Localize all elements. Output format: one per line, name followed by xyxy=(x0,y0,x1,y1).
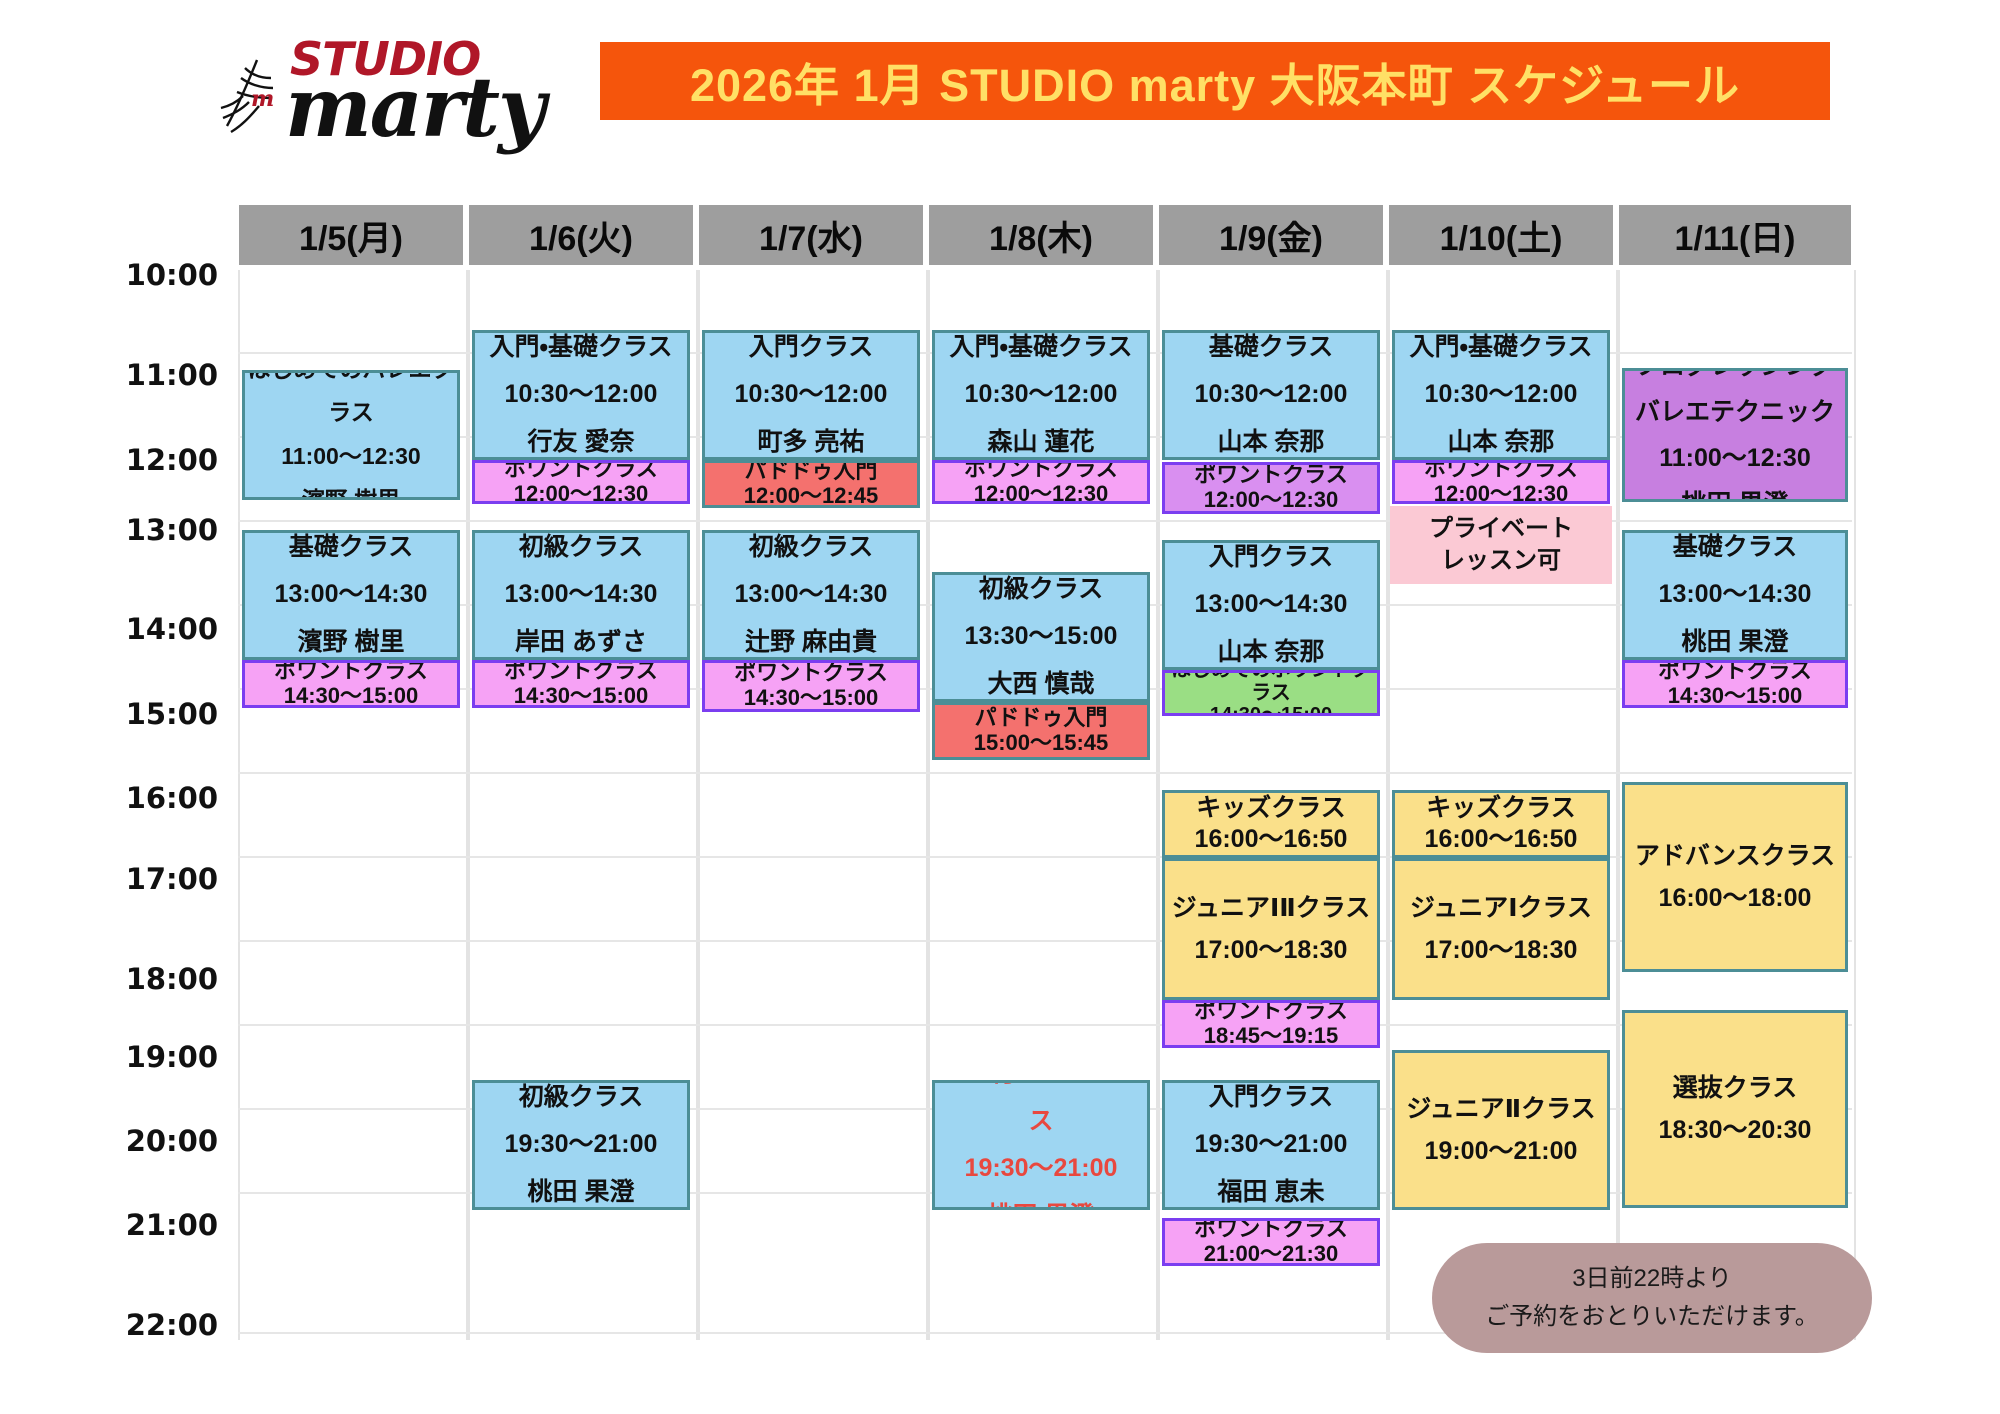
event-thu-padedeux[interactable]: パドドゥ入門 15:00〜15:45 xyxy=(932,702,1150,760)
time-label-1100: 11:00 xyxy=(108,358,218,392)
event-title: ジュニアⅠⅡクラス xyxy=(1172,887,1371,930)
event-wed-shokyu[interactable]: 初級クラス 13:00〜14:30 辻野 麻由貴 xyxy=(702,530,920,660)
event-title: 入門・基礎クラス xyxy=(949,330,1132,371)
event-tue-nyumon-kiso[interactable]: 入門・基礎クラス 10:30〜12:00 行友 愛奈 xyxy=(472,330,690,460)
event-wed-pointe[interactable]: ポワントクラス 14:30〜15:00 xyxy=(702,660,920,712)
event-sun-advance[interactable]: アドバンスクラス 16:00〜18:00 xyxy=(1622,782,1848,972)
schedule-grid: 10:00 11:00 12:00 13:00 14:00 15:00 16:0… xyxy=(0,0,2000,1414)
day-header-sat: 1/10(土) xyxy=(1388,204,1614,266)
event-wed-padedeux[interactable]: パドドゥ入門 12:00〜12:45 xyxy=(702,460,920,508)
time-label-1300: 13:00 xyxy=(108,513,218,547)
event-title: ポワントクラス xyxy=(1424,460,1578,482)
event-sun-senbatsu[interactable]: 選抜クラス 18:30〜20:30 xyxy=(1622,1010,1848,1208)
event-tue-pointe-1430[interactable]: ポワントクラス 14:30〜15:00 xyxy=(472,660,690,708)
event-teacher: 桃田 果澄 xyxy=(1682,619,1789,660)
event-fri-kiso[interactable]: 基礎クラス 10:30〜12:00 山本 奈那 xyxy=(1162,330,1380,460)
event-title: ポワントクラス xyxy=(1194,1000,1348,1024)
event-time: 12:00〜12:30 xyxy=(974,482,1109,504)
event-time: 13:30〜15:00 xyxy=(965,613,1118,661)
event-sun-progressing[interactable]: プログレッシング バレエテクニック 11:00〜12:30 桃田 果澄 xyxy=(1622,368,1848,502)
event-time: 21:00〜21:30 xyxy=(1204,1242,1339,1266)
event-teacher: 森山 蓮花 xyxy=(988,419,1095,460)
event-time: 15:00〜15:45 xyxy=(974,731,1109,756)
event-time: 13:00〜14:30 xyxy=(275,571,428,619)
event-fri-junior[interactable]: ジュニアⅠⅡクラス 17:00〜18:30 xyxy=(1162,858,1380,1000)
event-title: 初級クラス xyxy=(519,1080,644,1121)
time-label-1200: 12:00 xyxy=(108,443,218,477)
event-time: 19:30〜21:00 xyxy=(1195,1121,1348,1169)
event-time: 12:00〜12:45 xyxy=(744,484,879,508)
event-teacher: 大西 慎哉 xyxy=(988,661,1095,702)
time-label-1700: 17:00 xyxy=(108,862,218,896)
event-sat-nyumon-kiso[interactable]: 入門・基礎クラス 10:30〜12:00 山本 奈那 xyxy=(1392,330,1610,460)
event-time: 13:00〜14:30 xyxy=(1195,581,1348,629)
event-teacher: 福田 恵未 xyxy=(1218,1169,1325,1210)
event-teacher: 桃田 果澄 xyxy=(1682,481,1789,502)
event-mon-pointe[interactable]: ポワントクラス 14:30〜15:00 xyxy=(242,660,460,708)
event-teacher: 岸田 あずさ xyxy=(515,619,647,660)
event-time: 17:00〜18:30 xyxy=(1425,929,1578,972)
event-teacher: 町多 亮祐 xyxy=(758,419,865,460)
event-fri-kids[interactable]: キッズクラス 16:00〜16:50 xyxy=(1162,790,1380,858)
event-time: 14:30〜15:00 xyxy=(514,684,649,708)
event-time: 12:00〜12:30 xyxy=(514,482,649,504)
event-title: ポワントクラス xyxy=(1658,660,1812,684)
event-time: 19:30〜21:00 xyxy=(505,1121,658,1169)
event-title: はじめてのバレエクラス xyxy=(245,370,457,435)
event-time: 16:00〜16:50 xyxy=(1195,824,1348,855)
event-title: 入門クラス xyxy=(1209,540,1334,581)
event-fri-pointe-1845[interactable]: ポワントクラス 18:45〜19:15 xyxy=(1162,1000,1380,1048)
event-time: 16:00〜18:00 xyxy=(1659,877,1812,920)
event-sat-private-lesson[interactable]: プライベート レッスン可 xyxy=(1390,506,1612,584)
event-time: 19:00〜21:00 xyxy=(1425,1130,1578,1173)
time-label-1800: 18:00 xyxy=(108,962,218,996)
event-title: 初級クラス xyxy=(749,530,874,571)
event-title: 基礎クラス xyxy=(289,530,414,571)
private-line-2: レッスン可 xyxy=(1441,545,1561,577)
event-title: ポワントクラス xyxy=(274,660,428,684)
event-time: 11:00〜12:30 xyxy=(281,435,420,479)
event-title: パドドゥ入門 xyxy=(745,460,878,484)
event-tue-shokyu-evening[interactable]: 初級クラス 19:30〜21:00 桃田 果澄 xyxy=(472,1080,690,1210)
event-mon-kiso[interactable]: 基礎クラス 13:00〜14:30 濱野 樹里 xyxy=(242,530,460,660)
event-time: 16:00〜16:50 xyxy=(1425,824,1578,855)
event-title: ジュニアⅠクラス xyxy=(1410,887,1592,930)
event-title-line-1: プログレッシング xyxy=(1635,368,1835,389)
event-time: 13:00〜14:30 xyxy=(505,571,658,619)
time-label-2100: 21:00 xyxy=(108,1208,218,1242)
reservation-notice: 3日前22時より ご予約をおとりいただけます。 xyxy=(1432,1243,1872,1353)
event-title: キッズクラス xyxy=(1196,793,1346,824)
event-sun-kiso[interactable]: 基礎クラス 13:00〜14:30 桃田 果澄 xyxy=(1622,530,1848,660)
event-sat-kids[interactable]: キッズクラス 16:00〜16:50 xyxy=(1392,790,1610,858)
event-time: 18:30〜20:30 xyxy=(1659,1109,1812,1152)
event-fri-nyumon[interactable]: 入門クラス 13:00〜14:30 山本 奈那 xyxy=(1162,540,1380,670)
event-time: 17:00〜18:30 xyxy=(1195,929,1348,972)
event-title: 初級クラス xyxy=(519,530,644,571)
event-teacher: 山本 奈那 xyxy=(1448,419,1555,460)
event-fri-pointe-2100[interactable]: ポワントクラス 21:00〜21:30 xyxy=(1162,1218,1380,1266)
event-sat-junior-2[interactable]: ジュニアⅡクラス 19:00〜21:00 xyxy=(1392,1050,1610,1210)
event-time: 10:30〜12:00 xyxy=(1425,371,1578,419)
event-title: PBT付バレエクラス xyxy=(935,1080,1147,1145)
notice-line-2: ご予約をおとりいただけます。 xyxy=(1485,1298,1819,1336)
event-title: 入門・基礎クラス xyxy=(489,330,672,371)
event-tue-pointe-1200[interactable]: ポワントクラス 12:00〜12:30 xyxy=(472,460,690,504)
day-header-sun: 1/11(日) xyxy=(1618,204,1852,266)
event-time: 10:30〜12:00 xyxy=(965,371,1118,419)
event-title: ジュニアⅡクラス xyxy=(1406,1088,1595,1131)
event-title: キッズクラス xyxy=(1426,793,1576,824)
event-time: 11:00〜12:30 xyxy=(1659,435,1811,481)
event-fri-pointe-1200[interactable]: ポワントクラス 12:00〜12:30 xyxy=(1162,462,1380,514)
event-teacher: 山本 奈那 xyxy=(1218,629,1325,670)
time-label-2000: 20:00 xyxy=(108,1124,218,1158)
event-time: 12:00〜12:30 xyxy=(1204,488,1339,513)
event-teacher: 濱野 樹里 xyxy=(298,619,405,660)
time-label-1400: 14:00 xyxy=(108,612,218,646)
event-title-line-2: バレエテクニック xyxy=(1635,389,1835,435)
event-thu-shokyu[interactable]: 初級クラス 13:30〜15:00 大西 慎哉 xyxy=(932,572,1150,702)
event-thu-nyumon-kiso[interactable]: 入門・基礎クラス 10:30〜12:00 森山 蓮花 xyxy=(932,330,1150,460)
event-fri-first-pointe[interactable]: はじめてのポワントクラス 14:30〜15:00 xyxy=(1162,670,1380,716)
event-time: 13:00〜14:30 xyxy=(1659,571,1812,619)
event-time: 14:30〜15:00 xyxy=(284,684,419,708)
event-sat-pointe[interactable]: ポワントクラス 12:00〜12:30 xyxy=(1392,460,1610,504)
event-title: 基礎クラス xyxy=(1209,330,1334,371)
time-label-1000: 10:00 xyxy=(108,258,218,292)
event-teacher: 桃田 果澄 xyxy=(528,1169,635,1210)
event-time: 10:30〜12:00 xyxy=(1195,371,1348,419)
gridline-1900 xyxy=(238,1024,1852,1026)
event-fri-nyumon-evening[interactable]: 入門クラス 19:30〜21:00 福田 恵未 xyxy=(1162,1080,1380,1210)
event-title: ポワントクラス xyxy=(964,460,1118,482)
day-header-tue: 1/6(火) xyxy=(468,204,694,266)
gridline-1600 xyxy=(238,772,1852,774)
event-title: パドドゥ入門 xyxy=(975,706,1108,731)
day-header-mon: 1/5(月) xyxy=(238,204,464,266)
day-header-fri: 1/9(金) xyxy=(1158,204,1384,266)
event-sun-pointe[interactable]: ポワントクラス 14:30〜15:00 xyxy=(1622,660,1848,708)
event-time: 14:30〜15:00 xyxy=(1668,684,1803,708)
event-title: 初級クラス xyxy=(979,572,1104,613)
event-time: 19:30〜21:00 xyxy=(965,1145,1118,1193)
event-title: ポワントクラス xyxy=(504,660,658,684)
time-label-1600: 16:00 xyxy=(108,781,218,815)
day-header-thu: 1/8(木) xyxy=(928,204,1154,266)
event-title: ポワントクラス xyxy=(504,460,658,482)
event-teacher: 桃田 果澄 xyxy=(988,1193,1095,1211)
event-mon-hajimete[interactable]: はじめてのバレエクラス 11:00〜12:30 濱野 樹里 xyxy=(242,370,460,500)
event-teacher: 辻野 麻由貴 xyxy=(745,619,877,660)
time-label-1500: 15:00 xyxy=(108,697,218,731)
event-time: 14:30〜15:00 xyxy=(1210,704,1332,716)
event-title: 基礎クラス xyxy=(1673,530,1798,571)
event-title: 入門クラス xyxy=(1209,1080,1334,1121)
day-header-wed: 1/7(水) xyxy=(698,204,924,266)
event-time: 14:30〜15:00 xyxy=(744,686,879,711)
event-title: ポワントクラス xyxy=(1194,463,1348,488)
event-sat-junior-1[interactable]: ジュニアⅠクラス 17:00〜18:30 xyxy=(1392,858,1610,1000)
event-wed-nyumon[interactable]: 入門クラス 10:30〜12:00 町多 亮祐 xyxy=(702,330,920,460)
event-title: はじめてのポワントクラス xyxy=(1165,670,1377,704)
event-title: 選抜クラス xyxy=(1673,1067,1798,1110)
event-time: 13:00〜14:30 xyxy=(735,571,888,619)
event-thu-pointe[interactable]: ポワントクラス 12:00〜12:30 xyxy=(932,460,1150,504)
event-teacher: 行友 愛奈 xyxy=(528,419,635,460)
event-title: アドバンスクラス xyxy=(1635,835,1835,878)
time-label-1900: 19:00 xyxy=(108,1040,218,1074)
time-label-2200: 22:00 xyxy=(108,1308,218,1342)
event-thu-pbt[interactable]: PBT付バレエクラス 19:30〜21:00 桃田 果澄 xyxy=(932,1080,1150,1210)
event-time: 18:45〜19:15 xyxy=(1204,1024,1339,1048)
event-title: 入門クラス xyxy=(749,330,874,371)
event-teacher: 濱野 樹里 xyxy=(302,479,400,500)
event-time: 12:00〜12:30 xyxy=(1434,482,1569,504)
private-line-1: プライベート xyxy=(1429,513,1573,545)
notice-line-1: 3日前22時より xyxy=(1572,1260,1732,1298)
event-teacher: 山本 奈那 xyxy=(1218,419,1325,460)
event-title: 入門・基礎クラス xyxy=(1409,330,1592,371)
event-time: 10:30〜12:00 xyxy=(735,371,888,419)
event-tue-shokyu[interactable]: 初級クラス 13:00〜14:30 岸田 あずさ xyxy=(472,530,690,660)
event-title: ポワントクラス xyxy=(1194,1218,1348,1242)
event-title: ポワントクラス xyxy=(734,661,888,686)
event-time: 10:30〜12:00 xyxy=(505,371,658,419)
